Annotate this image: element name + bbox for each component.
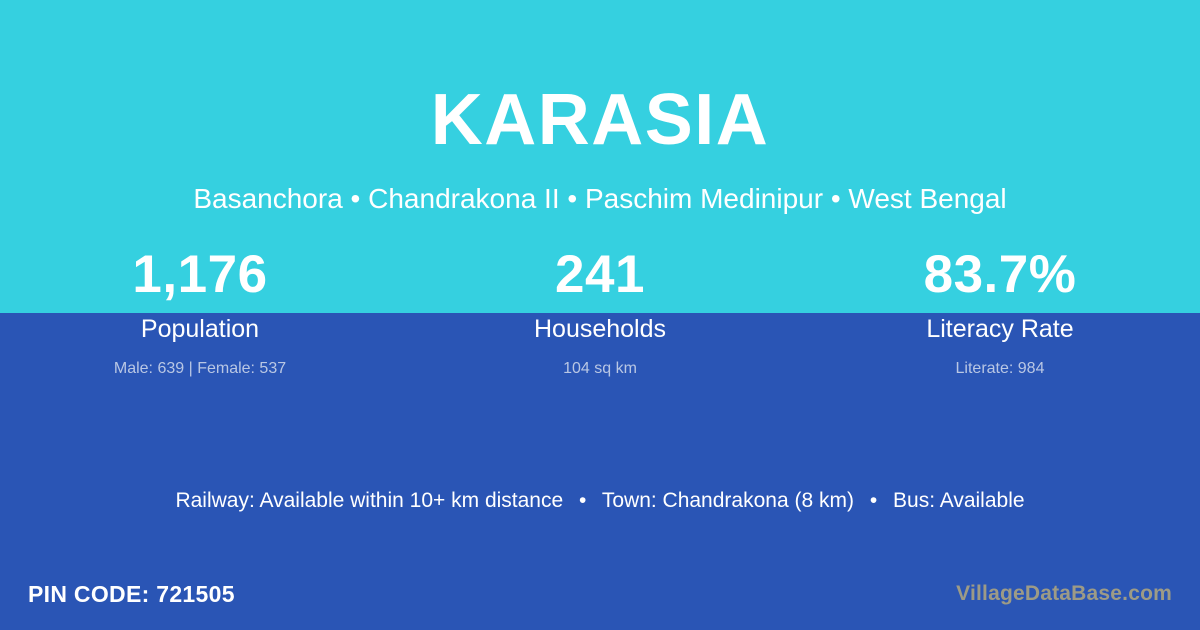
page-title: KARASIA bbox=[0, 80, 1200, 160]
railway-info: Railway: Available within 10+ km distanc… bbox=[175, 489, 563, 512]
area-value: 104 sq km bbox=[400, 358, 800, 380]
town-info: Town: Chandrakona (8 km) bbox=[602, 489, 854, 512]
population-breakdown: Male: 639 | Female: 537 bbox=[0, 358, 400, 380]
site-brand: VillageDataBase.com bbox=[956, 580, 1172, 608]
breadcrumb: Basanchora • Chandrakona II • Paschim Me… bbox=[0, 180, 1200, 218]
village-info-card: KARASIA Basanchora • Chandrakona II • Pa… bbox=[0, 0, 1200, 630]
bullet-separator-icon: • bbox=[860, 486, 887, 516]
literacy-rate-value: 83.7% bbox=[800, 244, 1200, 306]
literacy-rate-label: Literacy Rate bbox=[800, 312, 1200, 346]
bullet-separator-icon: • bbox=[569, 486, 596, 516]
stat-households: 241 Households 104 sq km bbox=[400, 244, 800, 384]
stat-literacy-rate: 83.7% Literacy Rate Literate: 984 bbox=[800, 244, 1200, 384]
population-value: 1,176 bbox=[0, 244, 400, 306]
stats-row: 1,176 Population Male: 639 | Female: 537… bbox=[0, 244, 1200, 384]
households-value: 241 bbox=[400, 244, 800, 306]
footer: PIN CODE: 721505 VillageDataBase.com bbox=[0, 558, 1200, 630]
bus-info: Bus: Available bbox=[893, 489, 1025, 512]
stat-population: 1,176 Population Male: 639 | Female: 537 bbox=[0, 244, 400, 384]
amenities-row: Railway: Available within 10+ km distanc… bbox=[0, 486, 1200, 516]
literate-count: Literate: 984 bbox=[800, 358, 1200, 380]
pin-code: PIN CODE: 721505 bbox=[28, 579, 235, 609]
households-label: Households bbox=[400, 312, 800, 346]
population-label: Population bbox=[0, 312, 400, 346]
